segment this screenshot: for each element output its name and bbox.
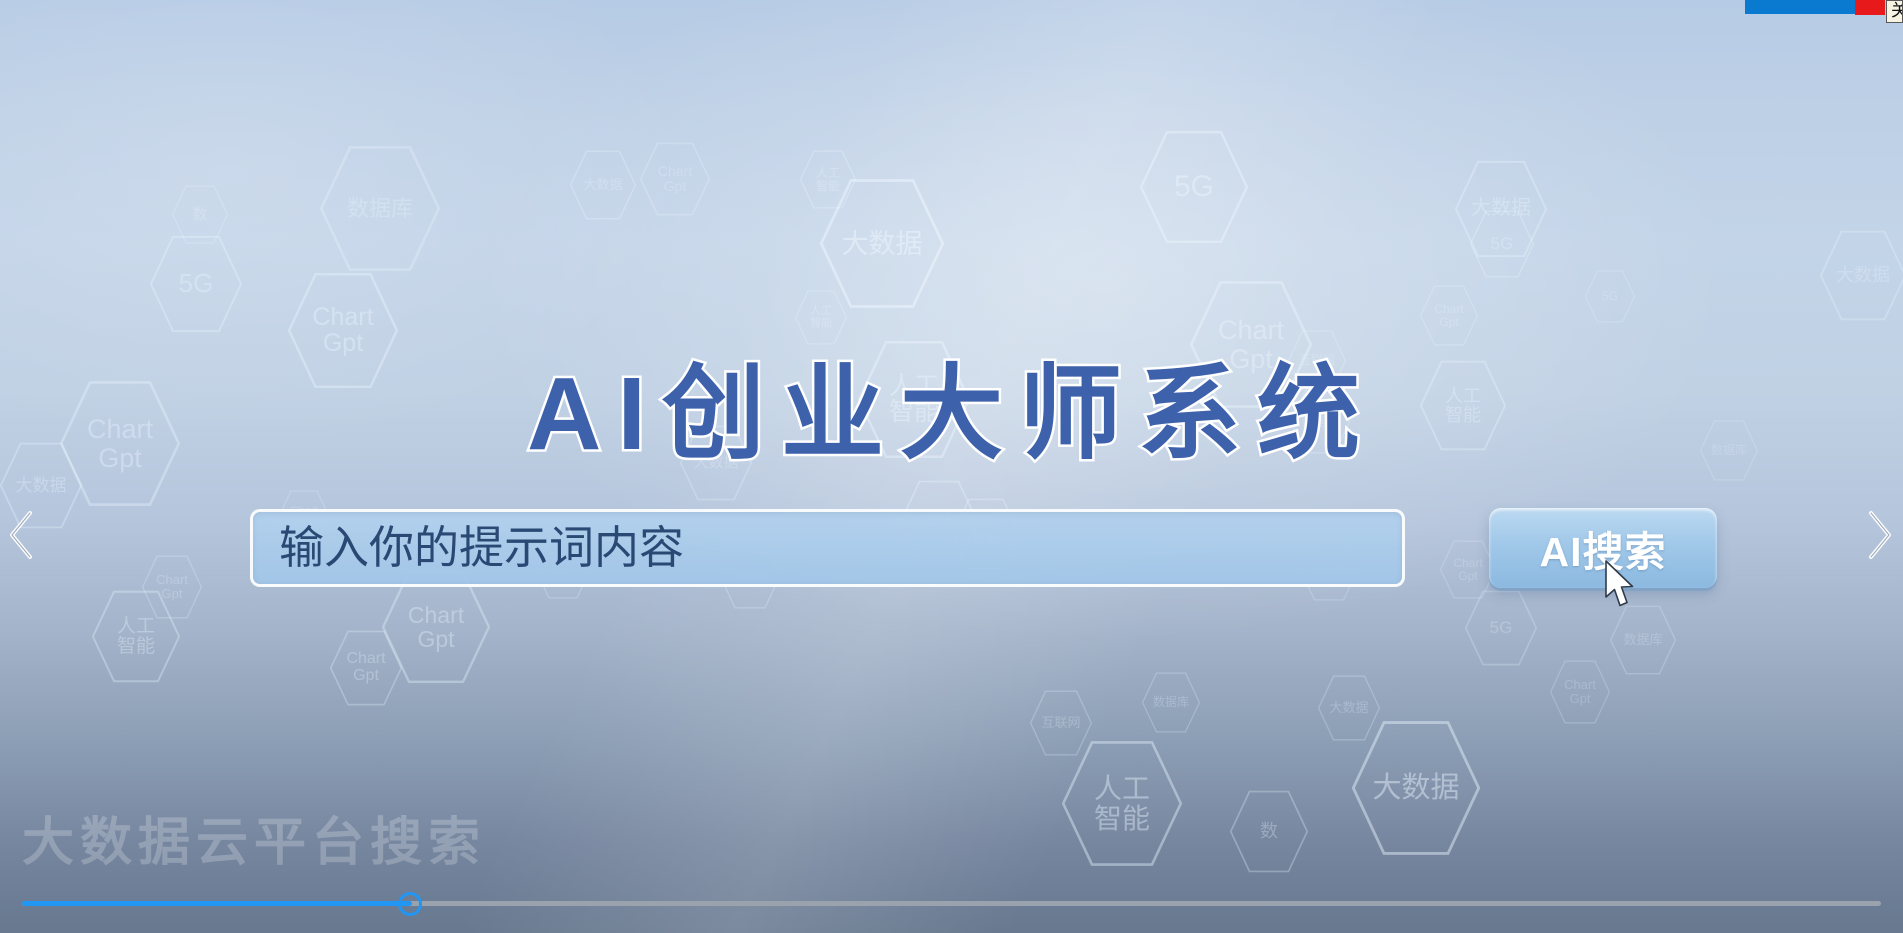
slider-fill [22,901,412,906]
chevron-left-icon [7,509,37,561]
search-input[interactable] [279,512,1376,584]
app-root: 数据库大数据Chart Gpt数5GChart Gpt大数据人工 智能人工 智能… [0,0,1903,933]
page-title: AI创业大师系统 [0,330,1903,479]
top-blue-indicator-bar [1745,0,1855,14]
search-row: AI搜索 [250,508,1717,588]
carousel-next-button[interactable] [1857,500,1901,570]
chevron-right-icon [1864,509,1894,561]
ai-search-button[interactable]: AI搜索 [1489,508,1717,588]
top-red-indicator-bar [1855,0,1885,15]
slider-handle[interactable] [398,892,422,916]
close-tooltip[interactable]: 关闭 [1886,0,1903,23]
bottom-progress-slider[interactable] [22,892,1881,914]
search-input-wrapper[interactable] [250,509,1405,587]
carousel-prev-button[interactable] [0,500,44,570]
